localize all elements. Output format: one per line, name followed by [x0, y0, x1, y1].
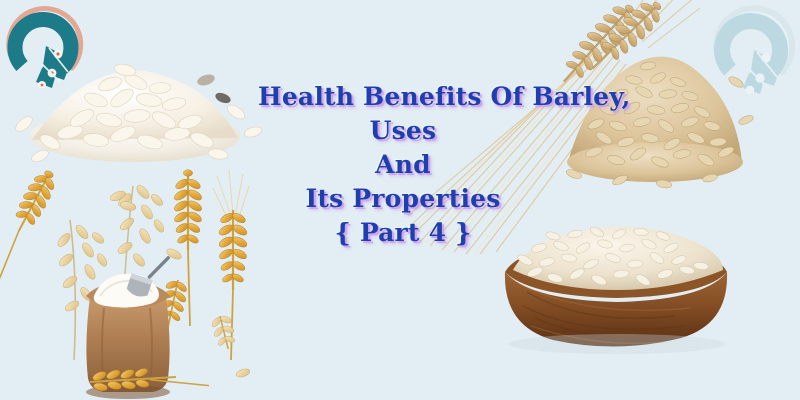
- page-title: Health Benefits Of Barley, Uses And Its …: [258, 84, 548, 246]
- title-line-2: Uses: [258, 118, 548, 144]
- barley-article-banner: Health Benefits Of Barley, Uses And Its …: [0, 0, 800, 400]
- pearl-barley-pile-image: [10, 28, 260, 168]
- wheat-stalks-and-flour-sack-image: [28, 168, 263, 396]
- title-line-5: { Part 4 }: [258, 220, 548, 246]
- title-line-1: Health Benefits Of Barley,: [258, 84, 548, 110]
- title-line-4: Its Properties: [258, 186, 548, 212]
- title-line-3: And: [258, 152, 548, 178]
